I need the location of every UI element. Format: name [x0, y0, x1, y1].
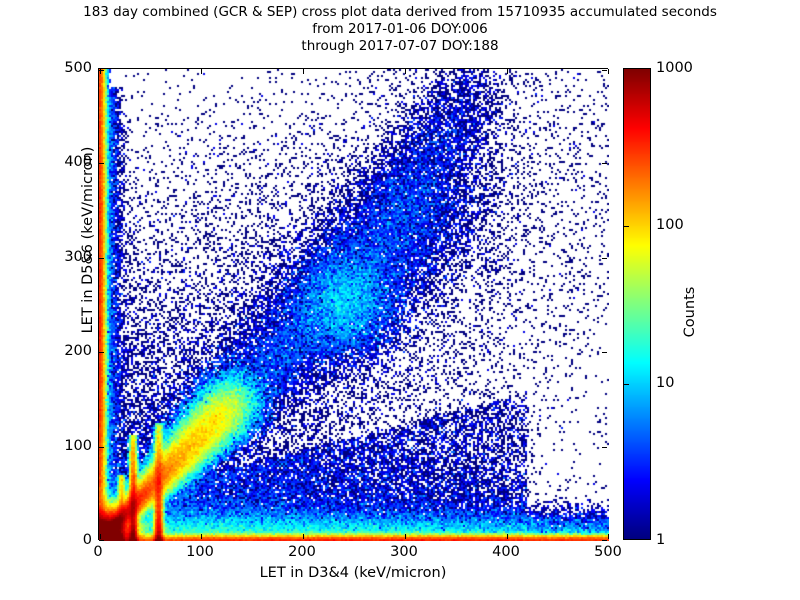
x-tick-top-200	[303, 69, 304, 74]
y-tick-300	[99, 258, 104, 259]
y-tick-right-100	[602, 447, 607, 448]
y-tick-500	[99, 70, 104, 71]
x-tick-top-500	[608, 69, 609, 74]
x-tick-label-500: 500	[594, 544, 622, 560]
x-tick-400	[507, 534, 508, 539]
figure-title: 183 day combined (GCR & SEP) cross plot …	[0, 4, 800, 55]
y-tick-right-0	[602, 540, 607, 541]
scatter-density-canvas	[99, 69, 609, 541]
colorbar-gradient-canvas	[624, 69, 650, 539]
y-tick-label-0: 0	[83, 532, 92, 548]
y-tick-200	[99, 352, 104, 353]
y-tick-label-500: 500	[64, 60, 92, 76]
colorbar-tick-100	[624, 226, 629, 227]
x-tick-top-100	[201, 69, 202, 74]
x-tick-label-300: 300	[390, 544, 418, 560]
x-tick-label-200: 200	[288, 544, 316, 560]
y-tick-right-500	[602, 70, 607, 71]
x-tick-label-100: 100	[186, 544, 214, 560]
plot-area	[98, 68, 608, 540]
x-tick-100	[201, 534, 202, 539]
colorbar-tick-label-1: 1	[656, 532, 665, 548]
x-tick-500	[608, 534, 609, 539]
y-tick-400	[99, 163, 104, 164]
y-tick-right-200	[602, 352, 607, 353]
x-tick-0	[100, 534, 101, 539]
colorbar-label: Counts	[682, 247, 698, 377]
x-tick-label-0: 0	[93, 544, 102, 560]
colorbar-tick-10	[624, 384, 629, 385]
colorbar	[623, 68, 651, 540]
x-tick-top-300	[405, 69, 406, 74]
colorbar-tick-label-1000: 1000	[656, 60, 693, 76]
colorbar-tick-label-10: 10	[656, 375, 674, 391]
title-line-1: 183 day combined (GCR & SEP) cross plot …	[0, 4, 800, 21]
title-line-3: through 2017-07-07 DOY:188	[0, 38, 800, 55]
colorbar-tick-label-100: 100	[656, 217, 684, 233]
scatter-plot-figure: 183 day combined (GCR & SEP) cross plot …	[0, 0, 800, 600]
y-tick-0	[99, 540, 104, 541]
y-tick-right-400	[602, 163, 607, 164]
x-axis-label: LET in D3&4 (keV/micron)	[98, 565, 608, 581]
x-tick-top-400	[507, 69, 508, 74]
x-tick-200	[303, 534, 304, 539]
title-line-2: from 2017-01-06 DOY:006	[0, 21, 800, 38]
x-tick-label-400: 400	[492, 544, 520, 560]
y-tick-right-300	[602, 258, 607, 259]
y-tick-label-100: 100	[64, 438, 92, 454]
x-tick-300	[405, 534, 406, 539]
y-axis-label: LET in D5&6 (keV/micron)	[80, 90, 96, 390]
y-tick-100	[99, 447, 104, 448]
